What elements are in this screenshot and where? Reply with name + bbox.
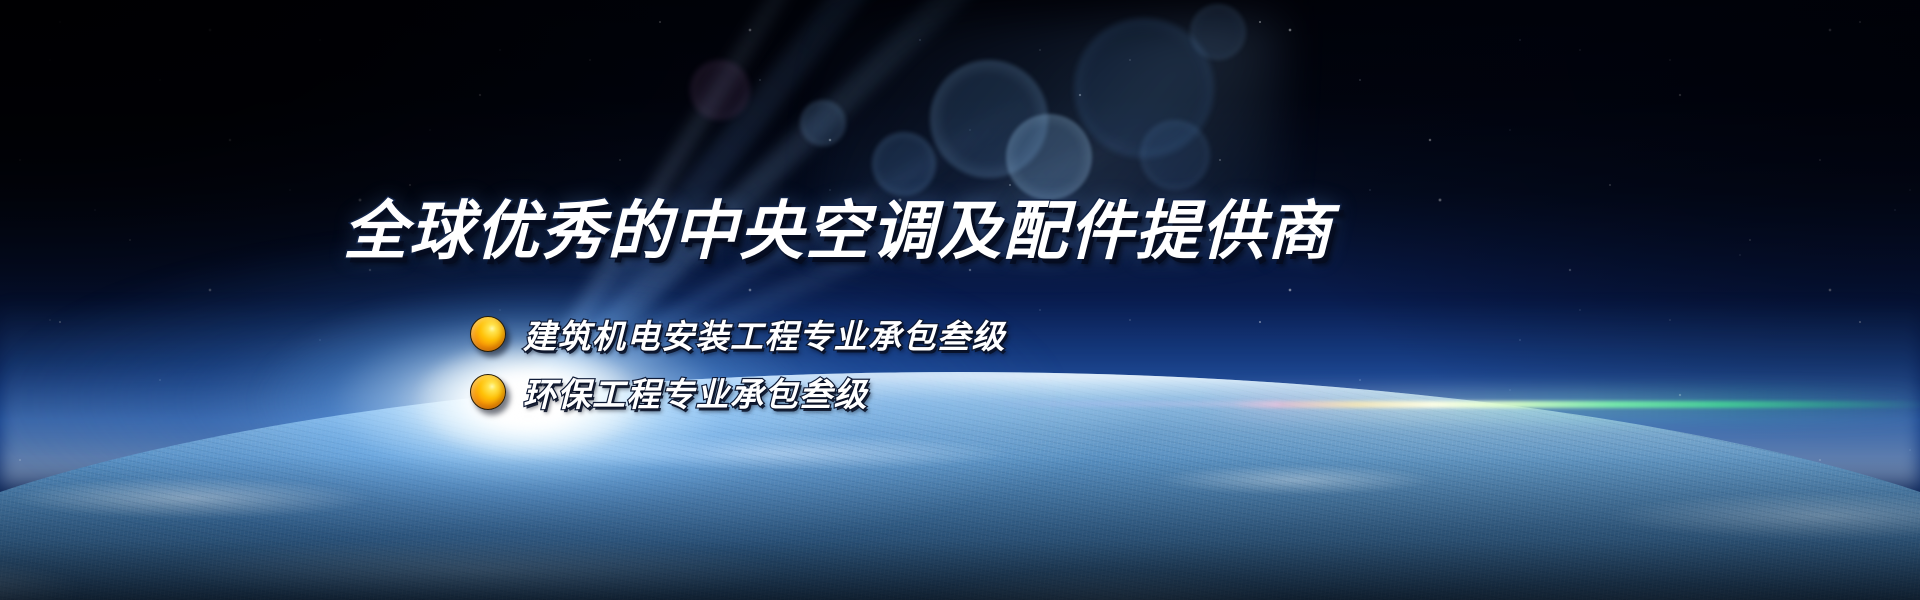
qualification-list: 建筑机电安装工程专业承包叁级 环保工程专业承包叁级 xyxy=(470,306,1470,422)
list-item-label: 环保工程专业承包叁级 xyxy=(523,368,868,416)
orange-sphere-bullet-icon xyxy=(470,316,506,352)
headline-inner: 全球优秀的中央空调及配件提供商 xyxy=(343,198,1333,267)
headline-block: 全球优秀的中央空调及配件提供商 xyxy=(0,198,1920,267)
list-item-label: 建筑机电安装工程专业承包叁级 xyxy=(523,310,1006,358)
list-item: 建筑机电安装工程专业承包叁级 xyxy=(470,306,1470,362)
banner-content: 全球优秀的中央空调及配件提供商 建筑机电安装工程专业承包叁级 环保工程专业承包叁… xyxy=(0,0,1920,600)
banner-headline: 全球优秀的中央空调及配件提供商 xyxy=(343,198,1333,267)
list-item: 环保工程专业承包叁级 xyxy=(470,364,1470,420)
hero-banner: 全球优秀的中央空调及配件提供商 建筑机电安装工程专业承包叁级 环保工程专业承包叁… xyxy=(0,0,1920,600)
orange-sphere-bullet-icon xyxy=(470,374,506,410)
